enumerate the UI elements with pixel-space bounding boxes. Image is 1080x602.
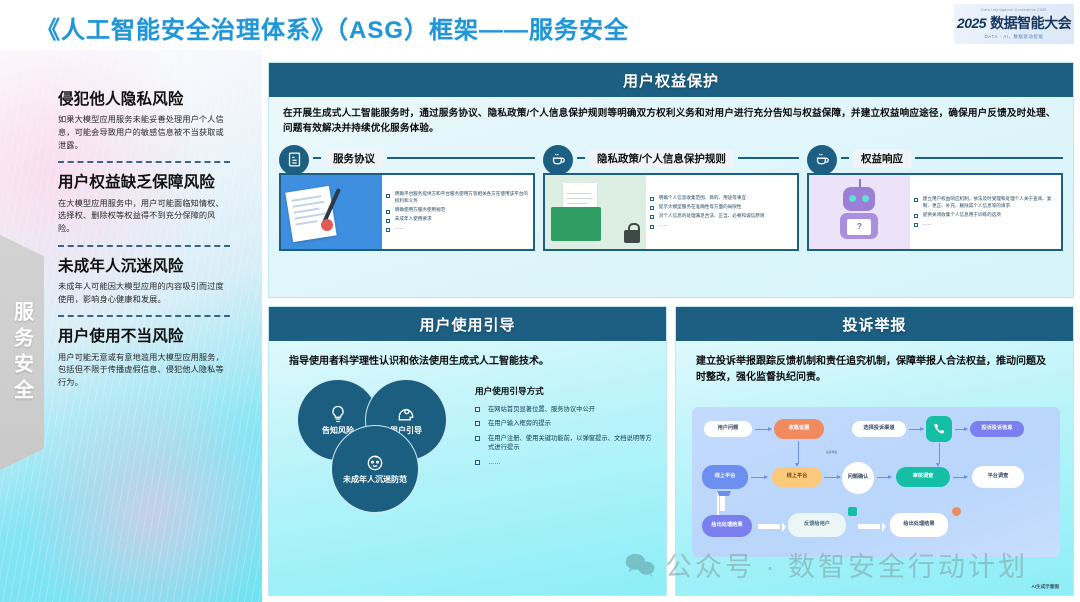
- title-dash: [577, 157, 585, 159]
- bullet-row: ……: [914, 221, 1057, 228]
- card-rights-response: 权益响应 ?: [807, 145, 1063, 251]
- bullet-row: 未成年人使用要求: [386, 216, 529, 223]
- flow-node: 选择投诉渠道: [852, 421, 906, 437]
- panel-header-user-guidance: 用户使用引导: [269, 307, 666, 341]
- risk-description: 在大模型应用服务中，用户可能面临知情权、选择权、删除权等权益得不到充分保障的风险…: [58, 198, 230, 236]
- risk-description: 如果大模型应用服务未能妥善处理用户个人信息，可能会导致用户的敏感信息被不当获取或…: [58, 114, 230, 152]
- risk-title: 未成年人沉迷风险: [58, 257, 230, 276]
- bullet-text: ……: [395, 225, 404, 232]
- bullet-marker: [650, 225, 654, 229]
- card-header: 服务协议: [279, 145, 535, 171]
- guidance-item: 在用户输入框旁的提示: [475, 419, 655, 428]
- flow-node: 审核调查: [896, 467, 950, 487]
- flow-node: 用户问题: [704, 421, 752, 437]
- card-bullets: 建立用户权益响应机制，依法及时受理和处理个人关于查阅、复制、更正、补充、删除其个…: [910, 175, 1061, 249]
- flow-arrow: [758, 524, 780, 529]
- bullet-text: 对个人信息的处理满足合法、正当、必要和诚信原则: [659, 213, 765, 220]
- flow-arrow-vertical: [798, 441, 799, 463]
- alert-icon: [952, 507, 961, 516]
- venn-circle-minor-addiction: 未成年人沉迷防范: [331, 425, 419, 513]
- response-icon: [807, 145, 837, 175]
- bullet-row: ……: [650, 222, 793, 229]
- bullet-marker: [650, 206, 654, 210]
- card-header: 隐私政策/个人信息保护规则: [543, 145, 799, 171]
- risk-divider: [58, 315, 230, 317]
- flow-node: 给出处理结果: [702, 515, 752, 537]
- guidance-item: 在网站首页显著位置、服务协议中公开: [475, 405, 655, 414]
- panel-complaint-report: 投诉举报 建立投诉举报跟踪反馈机制和责任追究机制，保障举报人合法权益，推动问题及…: [675, 306, 1074, 596]
- flow-arrow: [955, 429, 967, 430]
- card-service-agreement: 服务协议: [279, 145, 535, 251]
- bullet-text: 提供关闭收集个人信息用于训练的选项: [923, 212, 1001, 219]
- card-bullets: 明确平台服务提供方和平台服务使用方等相关各方在使用该平台的权利和义务 明确使用方…: [382, 175, 533, 249]
- bullet-row: 对个人信息的处理满足合法、正当、必要和诚信原则: [650, 213, 793, 220]
- bullet-marker: [475, 436, 480, 441]
- card-bullets: 明确个人信息收集范围、目的、用途等事宜 提示大模型服务在准确性等方面的局限性 对…: [646, 175, 797, 249]
- bullet-marker: [914, 214, 918, 218]
- flow-arrow: [751, 477, 767, 478]
- bullet-text: ……: [659, 222, 668, 229]
- flow-node: 问题确认: [842, 462, 874, 494]
- card-header: 权益响应: [807, 145, 1063, 171]
- phone-icon: [926, 416, 952, 442]
- guidance-method-list: 用户使用引导方式 在网站首页显著位置、服务协议中公开 在用户输入框旁的提示 在用…: [475, 385, 655, 472]
- bullet-marker: [475, 421, 480, 426]
- baby-face-icon: [365, 453, 385, 473]
- card-title-row: 权益响应: [841, 149, 1063, 168]
- card-body: 明确平台服务提供方和平台服务使用方等相关各方在使用该平台的权利和义务 明确使用方…: [279, 173, 535, 251]
- flow-node: 平台调查: [972, 466, 1024, 488]
- risk-title: 侵犯他人隐私风险: [58, 90, 230, 109]
- head-speech-icon: [396, 404, 416, 424]
- left-risk-column: 服务安全 侵犯他人隐私风险 如果大模型应用服务未能妥善处理用户个人信息，可能会导…: [0, 50, 262, 602]
- ai-generated-note: AI生成示意图: [1031, 584, 1059, 590]
- panel-description-user-guidance: 指导使用者科学理性认识和依法使用生成式人工智能技术。: [269, 341, 666, 370]
- flow-arrow: [824, 477, 840, 478]
- logo-chinese-name: 数据智能大会: [990, 13, 1071, 33]
- flow-arrow: [858, 524, 880, 529]
- guidance-list-title: 用户使用引导方式: [475, 385, 655, 397]
- flow-arrow: [953, 477, 967, 478]
- risk-item: 未成年人沉迷风险 未成年人可能因大模型应用的内容吸引而过度使用，影响身心健康和发…: [58, 257, 230, 307]
- flow-node: 收集证据: [774, 419, 824, 439]
- risk-item: 用户使用不当风险 用户可能无意或有意地滥用大模型应用服务，包括但不限于传播虚假信…: [58, 327, 230, 389]
- content-area: 用户权益保护 在开展生成式人工智能服务时，通过服务协议、隐私政策/个人信息保护规…: [262, 50, 1080, 602]
- folder-shape: [551, 207, 601, 241]
- chat-icon: [848, 507, 857, 516]
- guidance-venn-diagram: 告知风险 用户引导: [283, 377, 483, 547]
- flow-arrow: [909, 429, 923, 430]
- conference-logo: Data Intelligence Conference 2025 2025 数…: [954, 4, 1074, 44]
- flow-arrow-vertical: [939, 443, 940, 463]
- privacy-policy-illustration: [545, 175, 646, 249]
- flow-arrow-vertical: [720, 493, 725, 511]
- bullet-row: 提示大模型服务在准确性等方面的局限性: [650, 204, 793, 211]
- risk-description: 未成年人可能因大模型应用的内容吸引而过度使用，影响身心健康和发展。: [58, 281, 230, 306]
- service-security-tab-label: 服务安全: [0, 235, 44, 470]
- bullet-text: 未成年人使用要求: [395, 216, 432, 223]
- lock-icon: [624, 230, 640, 243]
- risk-item: 用户权益缺乏保障风险 在大模型应用服务中，用户可能面临知情权、选择权、删除权等权…: [58, 173, 230, 235]
- card-body: ? 建立用户权益响应机制，依法及时受理和处理个人关于查阅、复制、更正、补充、删除…: [807, 173, 1063, 251]
- panel-description-user-rights: 在开展生成式人工智能服务时，通过服务协议、隐私政策/个人信息保护规则等明确双方权…: [269, 97, 1073, 143]
- bullet-text: 明确使用方服务使用规范: [395, 207, 446, 214]
- document-icon: [279, 145, 309, 175]
- flow-node: 投诉投诉信息: [970, 421, 1024, 437]
- bullet-text: 明确个人信息收集范围、目的、用途等事宜: [659, 195, 746, 202]
- risk-divider: [58, 245, 230, 247]
- guidance-item-text: 在网站首页显著位置、服务协议中公开: [488, 405, 595, 414]
- flow-arrow: [755, 429, 771, 430]
- card-title-row: 隐私政策/个人信息保护规则: [577, 149, 799, 168]
- title-rule: [738, 157, 799, 159]
- bullet-marker: [475, 407, 480, 412]
- bullet-row: 明确使用方服务使用规范: [386, 207, 529, 214]
- title-dash: [841, 157, 849, 159]
- lightbulb-icon: [328, 404, 348, 424]
- card-body: 明确个人信息收集范围、目的、用途等事宜 提示大模型服务在准确性等方面的局限性 对…: [543, 173, 799, 251]
- flow-node: 给出处理结果: [890, 513, 948, 537]
- risk-title: 用户使用不当风险: [58, 327, 230, 346]
- title-dash: [313, 157, 321, 159]
- bullet-marker: [914, 198, 918, 202]
- risk-item: 侵犯他人隐私风险 如果大模型应用服务未能妥善处理用户个人信息，可能会导致用户的敏…: [58, 90, 230, 152]
- page-title: 《人工智能安全治理体系》（ASG）框架——服务安全: [36, 10, 629, 45]
- flow-arrow: [877, 477, 891, 478]
- panel-user-guidance: 用户使用引导 指导使用者科学理性认识和依法使用生成式人工智能技术。 告知风险 用…: [268, 306, 667, 596]
- bullet-text: 建立用户权益响应机制，依法及时受理和处理个人关于查阅、复制、更正、补充、删除其个…: [923, 196, 1057, 209]
- bullet-row: 提供关闭收集个人信息用于训练的选项: [914, 212, 1057, 219]
- risk-title: 用户权益缺乏保障风险: [58, 173, 230, 192]
- card-title: 隐私政策/个人信息保护规则: [589, 149, 734, 168]
- flow-node: 线上平台: [772, 467, 822, 487]
- panel-description-complaint: 建立投诉举报跟踪反馈机制和责任追究机制，保障举报人合法权益，推动问题及时整改，强…: [676, 341, 1073, 386]
- guidance-item-text: 在用户输入框旁的提示: [488, 419, 551, 428]
- title-rule: [387, 157, 535, 159]
- bullet-text: ……: [923, 221, 932, 228]
- bullet-text: 明确平台服务提供方和平台服务使用方等相关各方在使用该平台的权利和义务: [395, 191, 529, 204]
- robot-illustration: ?: [809, 175, 910, 249]
- panel-user-rights-protection: 用户权益保护 在开展生成式人工智能服务时，通过服务协议、隐私政策/个人信息保护规…: [268, 62, 1074, 298]
- risk-description: 用户可能无意或有意地滥用大模型应用服务，包括但不限于传播虚假信息、侵犯他人隐私等…: [58, 352, 230, 390]
- panel-header-complaint: 投诉举报: [676, 307, 1073, 341]
- guidance-item: ……: [475, 458, 655, 467]
- card-privacy-policy: 隐私政策/个人信息保护规则: [543, 145, 799, 251]
- risk-divider: [58, 161, 230, 163]
- flow-node: 反馈给用户: [788, 513, 846, 537]
- title-rule: [915, 157, 1063, 159]
- flow-node: 线上平台: [702, 465, 748, 489]
- bullet-marker: [386, 194, 390, 198]
- slide-root: 《人工智能安全治理体系》（ASG）框架——服务安全 Data Intellige…: [0, 0, 1080, 602]
- flow-note: 投诉举报: [826, 450, 837, 454]
- card-title: 权益响应: [853, 149, 911, 168]
- bullet-marker: [386, 219, 390, 223]
- bullet-row: 明确个人信息收集范围、目的、用途等事宜: [650, 195, 793, 202]
- logo-main-line: 2025 数据智能大会: [957, 13, 1071, 33]
- bullet-row: 建立用户权益响应机制，依法及时受理和处理个人关于查阅、复制、更正、补充、删除其个…: [914, 196, 1057, 209]
- guidance-item-text: ……: [488, 458, 501, 467]
- card-title: 服务协议: [325, 149, 383, 168]
- card-title-row: 服务协议: [313, 149, 535, 168]
- guidance-item: 在用户注册、使用关键功能前，以弹窗提示、文档说明等方式进行提示: [475, 434, 655, 453]
- logo-year: 2025: [957, 15, 986, 31]
- guidance-item-text: 在用户注册、使用关键功能前，以弹窗提示、文档说明等方式进行提示: [488, 434, 655, 453]
- logo-english-top: Data Intelligence Conference 2025: [981, 8, 1046, 12]
- bullet-text: 提示大模型服务在准确性等方面的局限性: [659, 204, 742, 211]
- bullet-row: ……: [386, 225, 529, 232]
- robot-card: ?: [847, 219, 871, 235]
- bullet-marker: [914, 223, 918, 227]
- bullet-marker: [386, 210, 390, 214]
- service-agreement-illustration: [281, 175, 382, 249]
- panel-header-user-rights: 用户权益保护: [269, 63, 1073, 97]
- seal-shape: [321, 219, 333, 231]
- robot-head: [843, 187, 875, 211]
- triple-card-row: 服务协议: [269, 143, 1073, 251]
- bullet-marker: [386, 228, 390, 232]
- venn-label: 未成年人沉迷防范: [343, 475, 407, 485]
- bullet-marker: [650, 197, 654, 201]
- bullet-marker: [475, 460, 480, 465]
- bullet-marker: [650, 215, 654, 219]
- privacy-icon: [543, 145, 573, 175]
- complaint-flow-diagram: 用户问题 收集证据 选择投诉渠道 投诉投诉信息 线上平台 线上平台: [692, 407, 1060, 557]
- logo-english-bottom: DATA · AI，数据驱动智能: [985, 34, 1044, 40]
- risk-list: 侵犯他人隐私风险 如果大模型应用服务未能妥善处理用户个人信息，可能会导致用户的敏…: [58, 90, 230, 397]
- bullet-row: 明确平台服务提供方和平台服务使用方等相关各方在使用该平台的权利和义务: [386, 191, 529, 204]
